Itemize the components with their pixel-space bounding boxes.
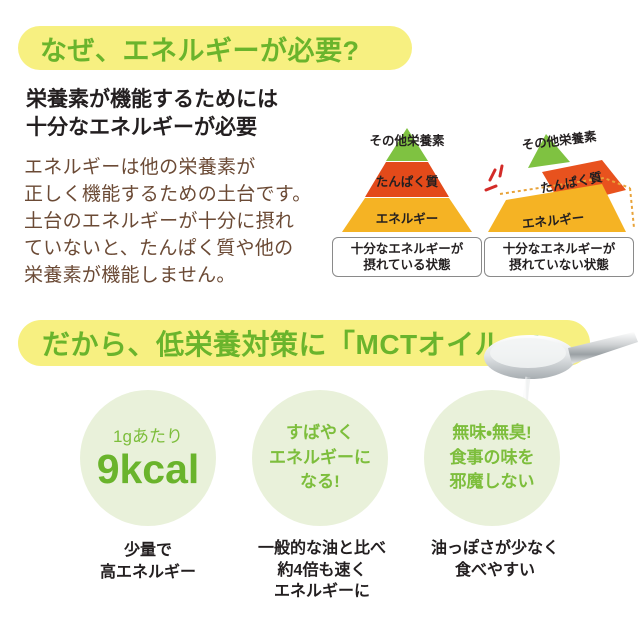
tier-middle-shape <box>365 162 449 197</box>
pyramid-insufficient-caption: 十分なエネルギーが 摂れていない状態 <box>484 237 634 277</box>
benefit-circle-2-label: すばやく エネルギーに なる! <box>269 421 371 495</box>
headline-nutrients: 栄養素が機能するためには 十分なエネルギーが必要 <box>26 86 278 141</box>
benefit-circle-fast-energy: すばやく エネルギーに なる! <box>252 390 388 526</box>
tier-top-shape <box>386 128 428 161</box>
benefit-caption-2: 一般的な油と比べ 約4倍も速く エネルギーに <box>227 538 417 603</box>
banner-why-energy-label: なぜ、エネルギーが必要? <box>40 29 360 68</box>
benefit-circle-1-value: 9kcal <box>97 449 200 490</box>
paragraph-energy-foundation: エネルギーは他の栄養素が 正しく機能するための土台です。 土台のエネルギーが十分… <box>24 155 312 290</box>
spoon-handle <box>568 332 638 364</box>
pyramid-sufficient-svg <box>332 128 482 233</box>
benefit-circle-1-small-label: 1gあたり <box>113 426 183 447</box>
tier-base-shape <box>342 198 472 232</box>
benefit-circle-energy-density: 1gあたり 9kcal <box>80 390 216 526</box>
tier-top-shape <box>528 134 570 168</box>
pyramid-insufficient-figure: その他栄養素 たんぱく質 エネルギー <box>484 128 634 233</box>
pyramid-sufficient: その他栄養素 たんぱく質 エネルギー 十分なエネルギーが 摂れている状態 <box>332 128 482 277</box>
infographic-page: なぜ、エネルギーが必要? 栄養素が機能するためには 十分なエネルギーが必要 エネ… <box>0 0 640 640</box>
banner-why-energy: なぜ、エネルギーが必要? <box>18 26 412 70</box>
benefit-circle-tasteless: 無味・無臭! 食事の味を 邪魔しない <box>424 390 560 526</box>
benefit-caption-1: 少量で 高エネルギー <box>53 540 243 583</box>
pyramid-sufficient-figure: その他栄養素 たんぱく質 エネルギー <box>332 128 482 233</box>
banner-mct-oil-label: だから、低栄養対策に「MCTオイル」! <box>42 323 541 363</box>
benefit-caption-3: 油っぽさが少なく 食べやすい <box>400 538 590 581</box>
pyramid-insufficient: その他栄養素 たんぱく質 エネルギー 十分なエネルギーが 摂れていない状態 <box>484 128 634 277</box>
missing-energy-dotted-edge <box>630 188 634 228</box>
benefit-circle-3-label: 無味・無臭! 食事の味を 邪魔しない <box>450 421 535 495</box>
spoon-bowl-highlight <box>490 338 566 368</box>
pyramid-sufficient-caption: 十分なエネルギーが 摂れている状態 <box>332 237 482 277</box>
impact-marks-icon <box>486 166 502 190</box>
pyramid-insufficient-svg <box>484 128 636 233</box>
